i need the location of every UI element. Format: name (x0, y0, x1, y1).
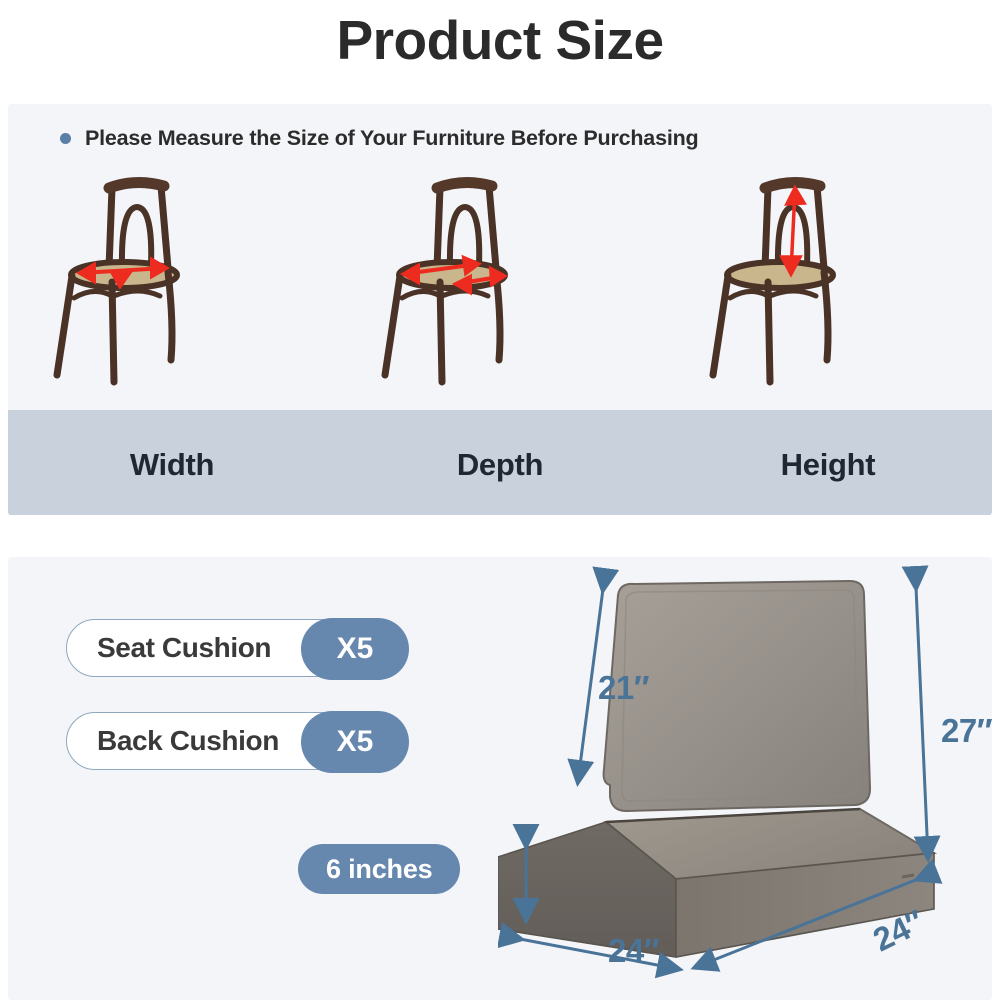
chair-width-svg (8, 160, 336, 410)
chair-illustration-row (8, 160, 992, 410)
back-cushion-label: Back Cushion (67, 725, 279, 757)
chair-height-svg (664, 160, 992, 410)
thickness-badge: 6 inches (298, 844, 460, 894)
dim-label-total-height: 27″ (941, 712, 992, 750)
measure-note-text: Please Measure the Size of Your Furnitur… (85, 126, 698, 151)
chair-depth-svg (336, 160, 664, 410)
label-cell-depth: Depth (336, 410, 664, 515)
seat-cushion-label: Seat Cushion (67, 632, 271, 664)
dim-label-back-height: 21″ (598, 669, 649, 707)
back-cushion-pill: Back Cushion X5 (66, 712, 408, 770)
contents-panel: Seat Cushion X5 Back Cushion X5 6 inches (8, 557, 992, 1000)
bullet-dot-icon (60, 133, 71, 144)
cushion-illustration: 21″ 27″ 24″ 24″ (498, 557, 992, 1000)
measure-panel: Please Measure the Size of Your Furnitur… (8, 104, 992, 515)
dim-label-front-width: 24″ (608, 932, 659, 970)
arrow-total-height (916, 587, 928, 857)
chair-width-illustration (8, 160, 336, 410)
dimension-label-band: Width Depth Height (8, 410, 992, 515)
label-cell-height: Height (664, 410, 992, 515)
seat-cushion-pill: Seat Cushion X5 (66, 619, 408, 677)
chair-depth-illustration (336, 160, 664, 410)
product-size-infographic: Product Size Please Measure the Size of … (0, 0, 1000, 1000)
dimension-label-height: Height (781, 447, 876, 483)
dimension-label-width: Width (130, 447, 214, 483)
page-title: Product Size (0, 2, 1000, 78)
chair-height-illustration (664, 160, 992, 410)
measure-note-row: Please Measure the Size of Your Furnitur… (60, 126, 698, 151)
back-cushion-qty-badge: X5 (301, 711, 409, 773)
seat-cushion-qty-badge: X5 (301, 618, 409, 680)
dimension-label-depth: Depth (457, 447, 543, 483)
label-cell-width: Width (8, 410, 336, 515)
